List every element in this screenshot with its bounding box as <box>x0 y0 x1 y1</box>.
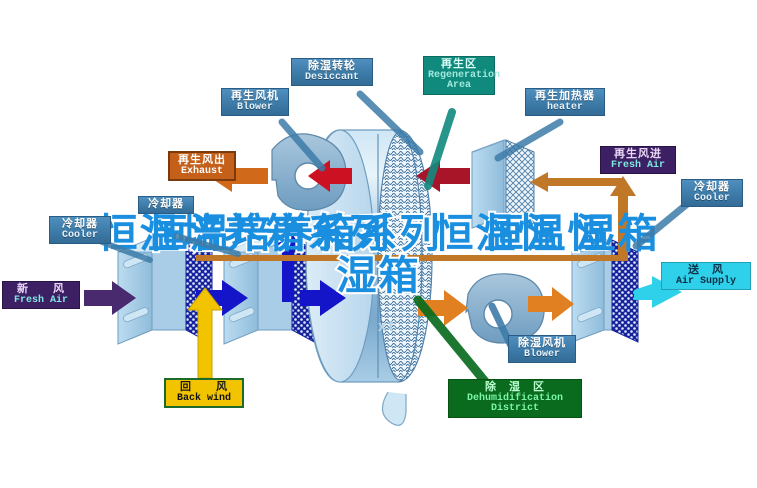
label-cooler-left-cn: 冷却器 <box>54 219 106 231</box>
label-back-wind-cn: 回 风 <box>170 382 238 394</box>
regen-heater-coil <box>472 140 534 228</box>
label-exhaust-cn: 再生风出 <box>174 155 230 167</box>
label-regen-fresh-air-in-cn: 再生风进 <box>605 149 671 161</box>
label-air-supply[interactable]: 送 风 Air Supply <box>661 262 751 290</box>
label-dehum-blower-en: Blower <box>513 350 571 361</box>
label-regen-heater[interactable]: 再生加热器 heater <box>525 88 605 116</box>
label-regen-blower-cn: 再生风机 <box>226 91 284 103</box>
label-dehum-district-cn: 除 湿 区 <box>453 382 577 394</box>
label-desiccant-cn: 除湿转轮 <box>296 61 368 73</box>
label-regen-fresh-air-in-en: Fresh Air <box>605 161 671 172</box>
label-regen-heater-cn: 再生加热器 <box>530 91 600 103</box>
label-fresh-air-en: Fresh Air <box>7 296 75 307</box>
label-cooler-mid[interactable]: 冷却器 <box>138 196 194 214</box>
label-cooler-left-en: Cooler <box>54 231 106 242</box>
label-air-supply-cn: 送 风 <box>666 265 746 277</box>
diagram-graphics <box>0 0 757 488</box>
label-cooler-left[interactable]: 冷却器 Cooler <box>49 216 111 244</box>
label-regen-blower[interactable]: 再生风机 Blower <box>221 88 289 116</box>
label-exhaust[interactable]: 再生风出 Exhaust <box>168 151 236 181</box>
label-regen-area-cn: 再生区 <box>428 59 490 71</box>
label-air-supply-en: Air Supply <box>666 277 746 288</box>
label-fresh-air[interactable]: 新 风 Fresh Air <box>2 281 80 309</box>
label-regen-heater-en: heater <box>530 103 600 114</box>
label-regen-blower-en: Blower <box>226 103 284 114</box>
label-fresh-air-cn: 新 风 <box>7 284 75 296</box>
label-dehum-blower-cn: 除湿风机 <box>513 338 571 350</box>
regen-fresh-air-arrow <box>530 172 624 192</box>
label-dehum-district[interactable]: 除 湿 区 Dehumidification District <box>448 379 582 418</box>
label-dehum-blower[interactable]: 除湿风机 Blower <box>508 335 576 363</box>
diagram-canvas: 恒温培养箱系列 恒温恒 湿箱 恒温培养箱系列 恒温恒 湿箱 xt 除湿转轮 De… <box>0 0 757 488</box>
label-cooler-right[interactable]: 冷却器 Cooler <box>681 179 743 207</box>
label-desiccant-en: Desiccant <box>296 73 368 84</box>
label-cooler-mid-cn: 冷却器 <box>143 199 189 211</box>
label-regen-fresh-air-in[interactable]: 再生风进 Fresh Air <box>600 146 676 174</box>
label-exhaust-en: Exhaust <box>174 167 230 178</box>
faint-mark: xt <box>378 318 395 335</box>
label-desiccant[interactable]: 除湿转轮 Desiccant <box>291 58 373 86</box>
label-dehum-district-en2: District <box>453 404 577 415</box>
label-regen-area-en2: Area <box>428 81 490 92</box>
label-cooler-right-cn: 冷却器 <box>686 182 738 194</box>
label-back-wind-en: Back wind <box>170 394 238 405</box>
label-regen-area[interactable]: 再生区 Regeneration Area <box>423 56 495 95</box>
label-back-wind[interactable]: 回 风 Back wind <box>164 378 244 408</box>
label-cooler-right-en: Cooler <box>686 194 738 205</box>
